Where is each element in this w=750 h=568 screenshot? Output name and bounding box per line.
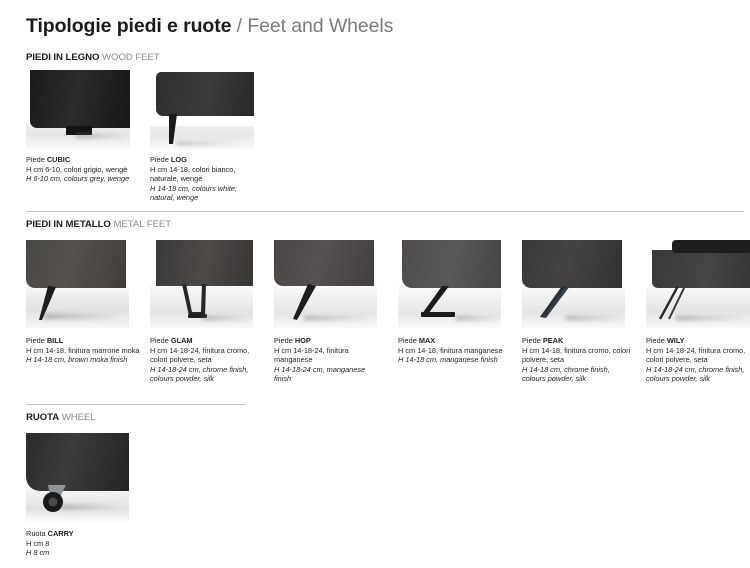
caption-carry: Ruota CARRY H cm 8 H 8 cm [26, 529, 136, 558]
caption-peak: Piede PEAK H cm 14-18, finitura cromo, c… [522, 336, 634, 384]
section-header-metal-feet-italian: PIEDI IN METALLO [26, 219, 111, 230]
product-image-max [398, 240, 501, 328]
carry-caster-shape [38, 483, 86, 519]
bill-tapered-blade-foot-icon [26, 240, 129, 328]
caption-glam-name: Piede GLAM [150, 336, 262, 346]
section-header-wheel: RUOTA WHEEL [26, 412, 96, 424]
section-header-metal-feet: PIEDI IN METALLO METAL FEET [26, 219, 171, 231]
caption-log-name: Piede LOG [150, 155, 254, 165]
caption-hop-name: Piede HOP [274, 336, 374, 346]
section-header-wheel-english: WHEEL [62, 412, 96, 423]
caption-hop-spec-en: H 14-18-24 cm, manganese finish [274, 365, 374, 384]
product-image-log [150, 70, 254, 150]
catalog-page: Tipologie piedi e ruote / Feet and Wheel… [0, 0, 750, 568]
caption-wily-name: Piede WILY [646, 336, 750, 346]
hop-angled-foot-icon [274, 240, 377, 328]
glam-loop-foot-icon [150, 240, 253, 328]
section-header-wheel-italian: RUOTA [26, 412, 59, 423]
caption-bill-name: Piede BILL [26, 336, 144, 346]
page-title: Tipologie piedi e ruote / Feet and Wheel… [26, 14, 393, 38]
caption-peak-name: Piede PEAK [522, 336, 634, 346]
caption-bill: Piede BILL H cm 14-18, finitura marrone … [26, 336, 144, 365]
caption-max: Piede MAX H cm 14-18, finitura manganese… [398, 336, 516, 365]
divider-metal-feet [26, 211, 744, 212]
caption-max-name: Piede MAX [398, 336, 516, 346]
section-header-wood-feet-italian: PIEDI IN LEGNO [26, 52, 99, 63]
product-image-cubic [26, 70, 130, 150]
caption-wily: Piede WILY H cm 14-18-24, finitura cromo… [646, 336, 750, 384]
product-image-carry [26, 433, 129, 521]
section-header-wood-feet-english: WOOD FEET [102, 52, 160, 63]
caption-glam-spec-en: H 14-18-24 cm, chrome finish, colours po… [150, 365, 262, 384]
max-sled-foot-icon [398, 240, 501, 328]
carry-caster-wheel-icon [26, 433, 129, 521]
product-image-hop [274, 240, 377, 328]
caption-log: Piede LOG H cm 14-18, colori bianco, nat… [150, 155, 254, 203]
caption-cubic-spec-en: H 6-10 cm, colours grey, wenge [26, 174, 144, 184]
page-title-separator: / [231, 15, 247, 37]
caption-bill-spec-en: H 14-18 cm, brown moka finish [26, 355, 144, 365]
wily-leg-shape [654, 286, 710, 326]
caption-peak-spec-it: H cm 14-18, finitura cromo, colori polve… [522, 346, 634, 365]
divider-wheel [26, 404, 246, 405]
peak-blade-foot-icon [522, 240, 625, 328]
caption-max-spec-it: H cm 14-18, finitura manganese [398, 346, 516, 356]
caption-cubic-spec-it: H cm 6-10, colori grigio, wengè [26, 165, 144, 175]
caption-glam-spec-it: H cm 14-18-24, finitura cromo, colori po… [150, 346, 262, 365]
section-header-metal-feet-english: METAL FEET [113, 219, 171, 230]
page-title-italian: Tipologie piedi e ruote [26, 15, 231, 37]
product-image-bill [26, 240, 129, 328]
caption-hop-spec-it: H cm 14-18-24, finitura manganese [274, 346, 374, 365]
caption-hop: Piede HOP H cm 14-18-24, finitura mangan… [274, 336, 374, 384]
caption-log-spec-it: H cm 14-18, colori bianco, naturale, wen… [150, 165, 254, 184]
page-title-english: Feet and Wheels [247, 15, 393, 37]
caption-max-spec-en: H 14-18 cm, manganese finish [398, 355, 516, 365]
product-image-peak [522, 240, 625, 328]
caption-carry-name: Ruota CARRY [26, 529, 136, 539]
caption-cubic: Piede CUBIC H cm 6-10, colori grigio, we… [26, 155, 144, 184]
caption-cubic-name: Piede CUBIC [26, 155, 144, 165]
section-header-wood-feet: PIEDI IN LEGNO WOOD FEET [26, 52, 160, 64]
wily-hairpin-foot-icon [646, 240, 750, 328]
caption-wily-spec-en: H 14-18-24 cm, chrome finish, colours po… [646, 365, 750, 384]
caption-glam: Piede GLAM H cm 14-18-24, finitura cromo… [150, 336, 262, 384]
cubic-block-foot-icon [26, 70, 130, 150]
caption-carry-spec-it: H cm 8 [26, 539, 136, 549]
caption-carry-spec-en: H 8 cm [26, 548, 136, 558]
caption-wily-spec-it: H cm 14-18-24, finitura cromo, colori po… [646, 346, 750, 365]
product-image-glam [150, 240, 253, 328]
caption-bill-spec-it: H cm 14-18, finitura marrone moka [26, 346, 144, 356]
product-image-wily [646, 240, 750, 328]
caption-log-spec-en: H 14-18 cm, colours white, natural, weng… [150, 184, 254, 203]
caption-peak-spec-en: H 14-18 cm, chrome finish, colours powde… [522, 365, 634, 384]
log-tapered-foot-icon [150, 70, 254, 150]
